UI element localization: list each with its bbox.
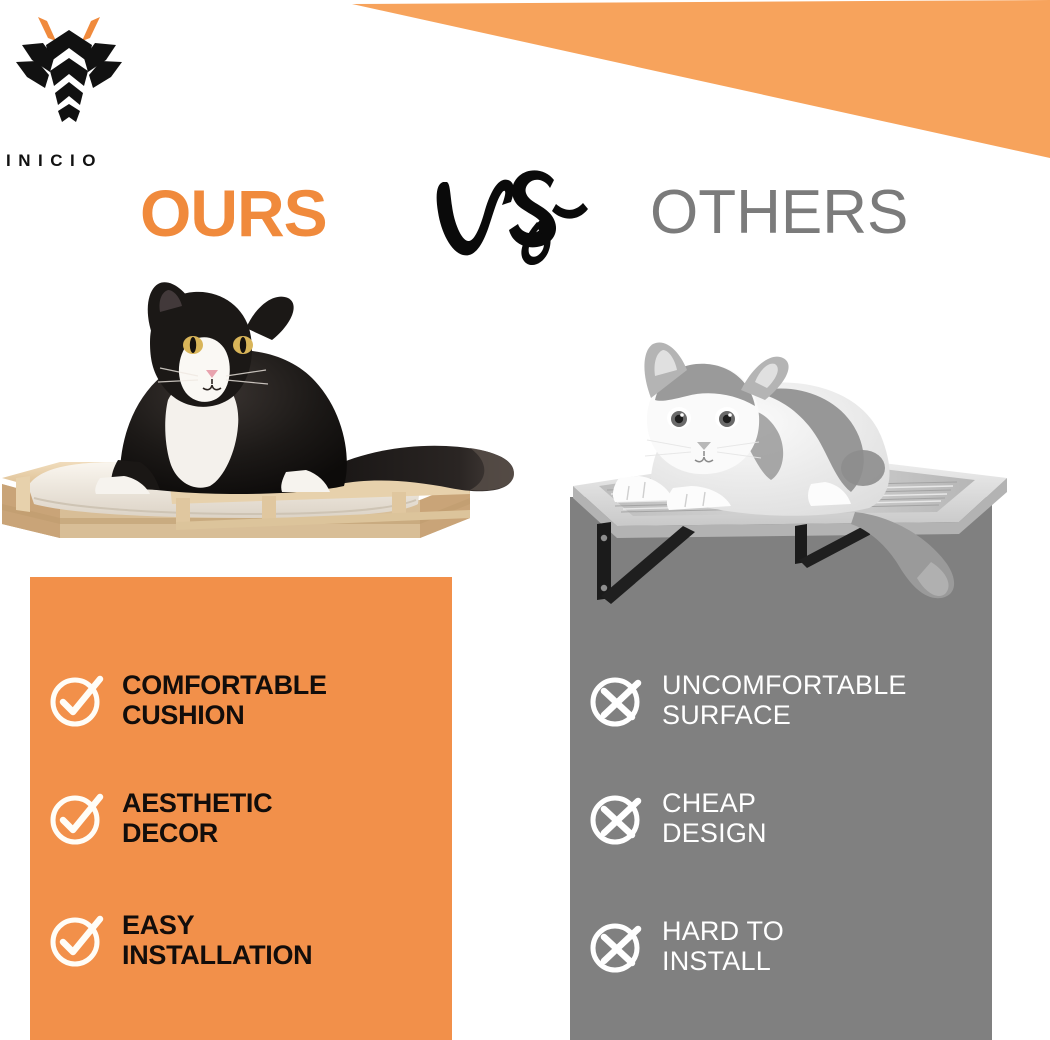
feature-rows: COMFORTABLE CUSHION AESTHETIC DECOR bbox=[0, 0, 1050, 1040]
ours-feature-3-line1: EASY bbox=[122, 910, 194, 940]
x-circle-icon bbox=[588, 671, 646, 729]
check-circle-icon bbox=[48, 671, 106, 729]
ours-feature-text-1: COMFORTABLE CUSHION bbox=[122, 670, 327, 730]
check-circle-icon bbox=[48, 911, 106, 969]
others-feature-text-1: UNCOMFORTABLE SURFACE bbox=[662, 670, 907, 730]
x-circle-icon bbox=[588, 789, 646, 847]
others-feature-row-1[interactable]: UNCOMFORTABLE SURFACE bbox=[570, 645, 992, 755]
ours-feature-text-2: AESTHETIC DECOR bbox=[122, 788, 272, 848]
others-feature-text-2: CHEAP DESIGN bbox=[662, 788, 767, 848]
others-feature-text-3: HARD TO INSTALL bbox=[662, 916, 784, 976]
others-feature-2-line2: DESIGN bbox=[662, 818, 767, 848]
others-feature-3-line1: HARD TO bbox=[662, 916, 784, 946]
others-feature-list: UNCOMFORTABLE SURFACE CHEAP DESIGN bbox=[570, 645, 992, 1019]
ours-feature-row-1[interactable]: COMFORTABLE CUSHION bbox=[30, 645, 452, 755]
ours-feature-3-line2: INSTALLATION bbox=[122, 940, 312, 970]
ours-feature-row-2[interactable]: AESTHETIC DECOR bbox=[30, 763, 452, 873]
ours-feature-2-line1: AESTHETIC bbox=[122, 788, 272, 818]
others-feature-1-line1: UNCOMFORTABLE bbox=[662, 670, 907, 700]
x-circle-icon bbox=[588, 917, 646, 975]
others-feature-2-line1: CHEAP bbox=[662, 788, 756, 818]
others-feature-row-2[interactable]: CHEAP DESIGN bbox=[570, 763, 992, 873]
ours-feature-1-line2: CUSHION bbox=[122, 700, 327, 730]
others-feature-row-3[interactable]: HARD TO INSTALL bbox=[570, 881, 992, 1011]
ours-feature-2-line2: DECOR bbox=[122, 818, 272, 848]
others-feature-3-line2: INSTALL bbox=[662, 946, 784, 976]
ours-feature-row-3[interactable]: EASY INSTALLATION bbox=[30, 881, 452, 999]
ours-feature-1-line1: COMFORTABLE bbox=[122, 670, 327, 700]
others-feature-1-line2: SURFACE bbox=[662, 700, 907, 730]
infographic-canvas: INICIO OURS OTHERS bbox=[0, 0, 1050, 1040]
check-circle-icon bbox=[48, 789, 106, 847]
ours-feature-list: COMFORTABLE CUSHION AESTHETIC DECOR bbox=[30, 645, 452, 1007]
ours-feature-text-3: EASY INSTALLATION bbox=[122, 910, 312, 970]
